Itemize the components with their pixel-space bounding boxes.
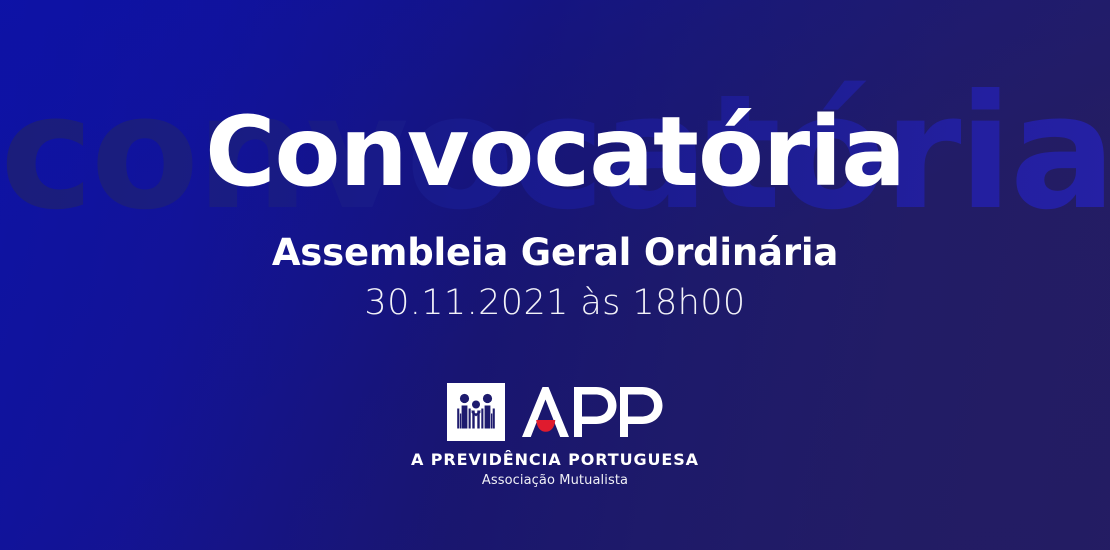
app-wordmark [520, 384, 663, 440]
convocation-banner: convocatória Convocatória Assembleia Ger… [0, 0, 1110, 550]
logo-tagline: A PREVIDÊNCIA PORTUGUESA [411, 450, 699, 469]
event-subtitle: Assembleia Geral Ordinária [272, 234, 838, 271]
page-title: Convocatória [205, 104, 905, 200]
red-smile-icon [536, 420, 555, 432]
banner-content: Convocatória Assembleia Geral Ordinária … [0, 0, 1110, 550]
logo-lockup: A PREVIDÊNCIA PORTUGUESA Associação Mutu… [411, 383, 699, 488]
event-datetime: 30.11.2021 às 18h00 [364, 286, 745, 321]
people-barcode-icon [447, 383, 505, 441]
logo-subtagline: Associação Mutualista [482, 473, 628, 488]
logo-row [447, 383, 663, 441]
